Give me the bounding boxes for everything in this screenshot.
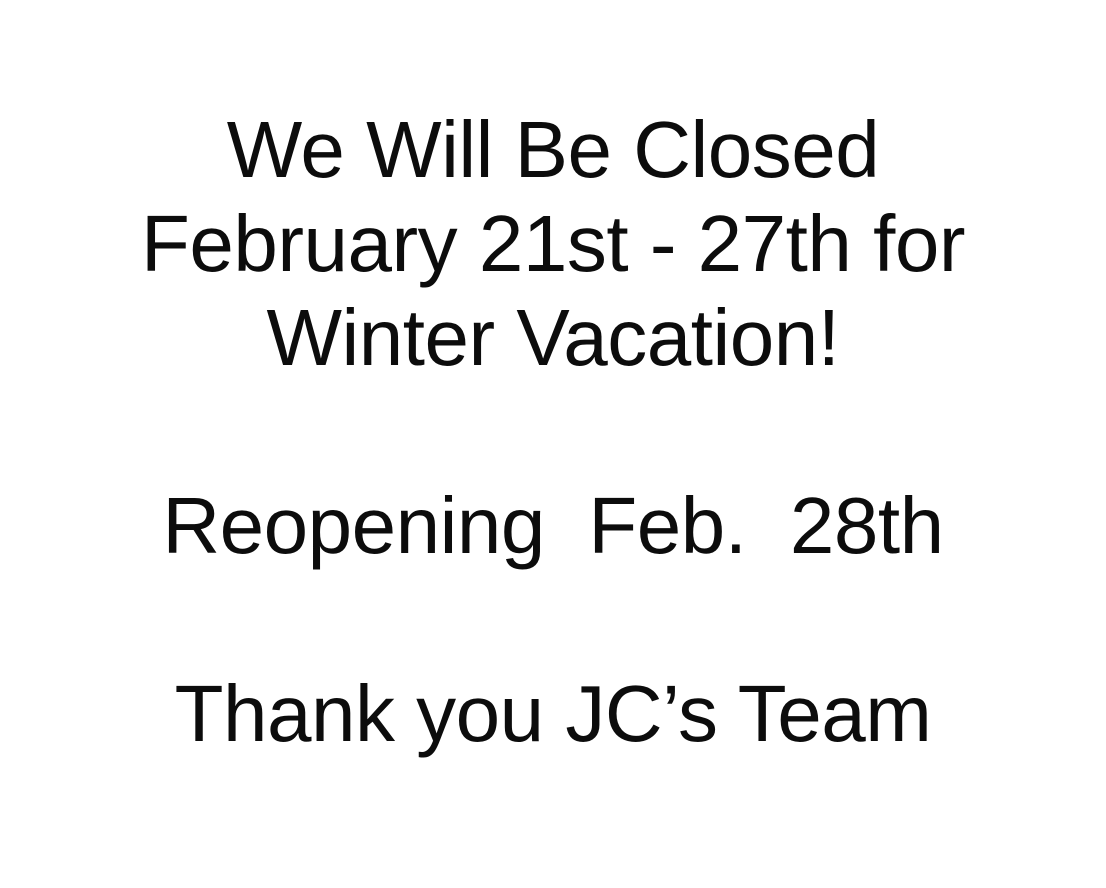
closure-line-1: We Will Be Closed xyxy=(0,103,1106,197)
closure-notice-page: We Will Be Closed February 21st - 27th f… xyxy=(0,0,1106,888)
signature-line: Thank you JC’s Team xyxy=(0,667,1106,761)
reopening-announcement-block: Reopening Feb. 28th xyxy=(0,479,1106,573)
closure-line-2-dates: February 21st - 27th for xyxy=(0,197,1106,291)
signature-block: Thank you JC’s Team xyxy=(0,667,1106,761)
closure-line-3-reason: Winter Vacation! xyxy=(0,291,1106,385)
closure-announcement-block: We Will Be Closed February 21st - 27th f… xyxy=(0,103,1106,385)
reopening-date-line: Reopening Feb. 28th xyxy=(0,479,1106,573)
paragraph-spacer-1 xyxy=(0,385,1106,479)
notice-text-body: We Will Be Closed February 21st - 27th f… xyxy=(0,103,1106,761)
paragraph-spacer-2 xyxy=(0,573,1106,667)
